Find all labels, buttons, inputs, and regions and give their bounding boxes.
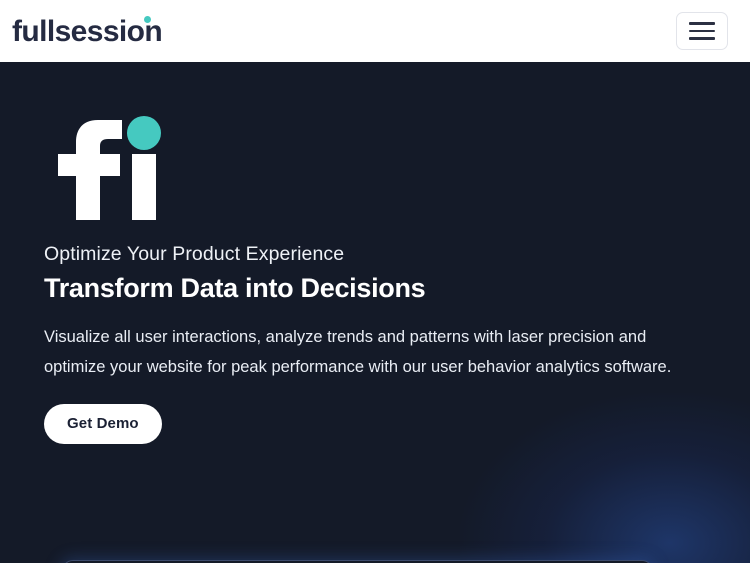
hero-eyebrow: Optimize Your Product Experience bbox=[44, 242, 704, 267]
brand-accent-dot-icon bbox=[144, 16, 151, 23]
hamburger-menu-button[interactable] bbox=[676, 12, 728, 50]
hamburger-bar-3-icon bbox=[689, 37, 715, 40]
brand-logo[interactable]: fullsession bbox=[12, 15, 162, 47]
site-header: fullsession bbox=[0, 0, 750, 62]
hero-subcopy: Visualize all user interactions, analyze… bbox=[44, 322, 689, 382]
hero-section: Optimize Your Product Experience Transfo… bbox=[0, 62, 750, 563]
hamburger-bar-2-icon bbox=[689, 30, 715, 33]
brand-logo-text: fullsession bbox=[12, 15, 162, 48]
get-demo-button[interactable]: Get Demo bbox=[44, 404, 162, 444]
hero-headline: Transform Data into Decisions bbox=[44, 270, 704, 306]
hamburger-bar-1-icon bbox=[689, 22, 715, 25]
hero-copy: Optimize Your Product Experience Transfo… bbox=[44, 242, 704, 444]
fi-logomark-icon bbox=[44, 102, 164, 222]
